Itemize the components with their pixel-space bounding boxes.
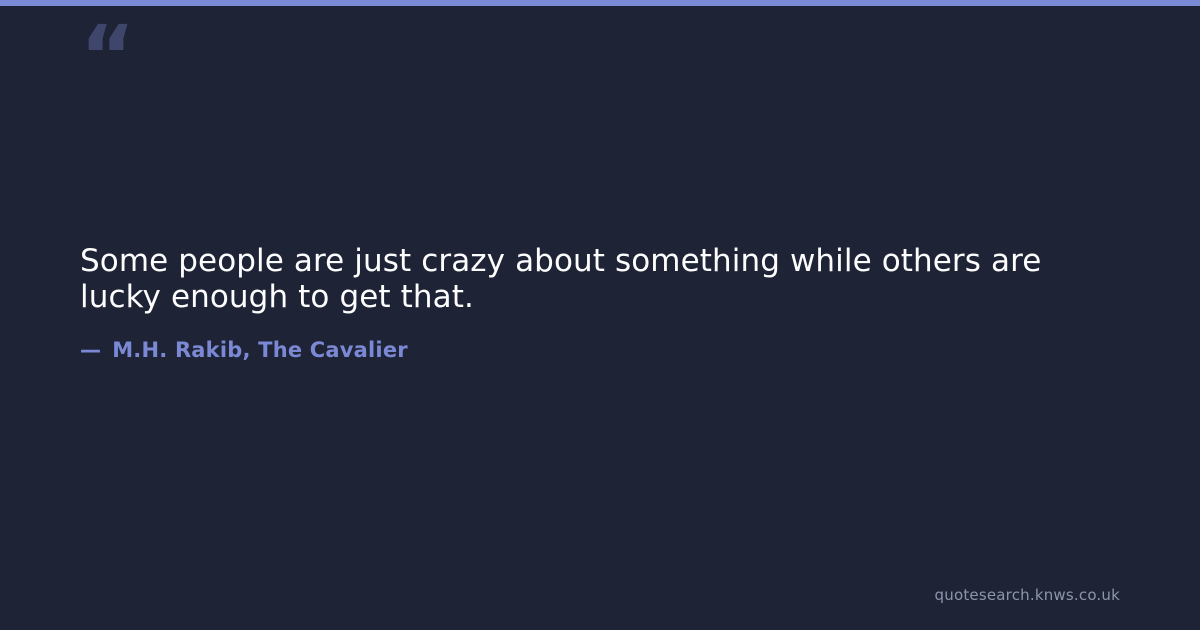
attribution-dash: — (80, 338, 101, 362)
quote-body: Some people are just crazy about somethi… (80, 243, 1090, 315)
quote-card: “ Some people are just crazy about somet… (0, 0, 1200, 630)
quotation-mark-icon: “ (80, 14, 133, 98)
attribution-author: M.H. Rakib, The Cavalier (112, 338, 408, 362)
attribution: — M.H. Rakib, The Cavalier (80, 338, 408, 362)
top-accent-bar (0, 0, 1200, 6)
quote-text: Some people are just crazy about somethi… (80, 243, 1090, 315)
site-watermark: quotesearch.knws.co.uk (935, 586, 1120, 604)
